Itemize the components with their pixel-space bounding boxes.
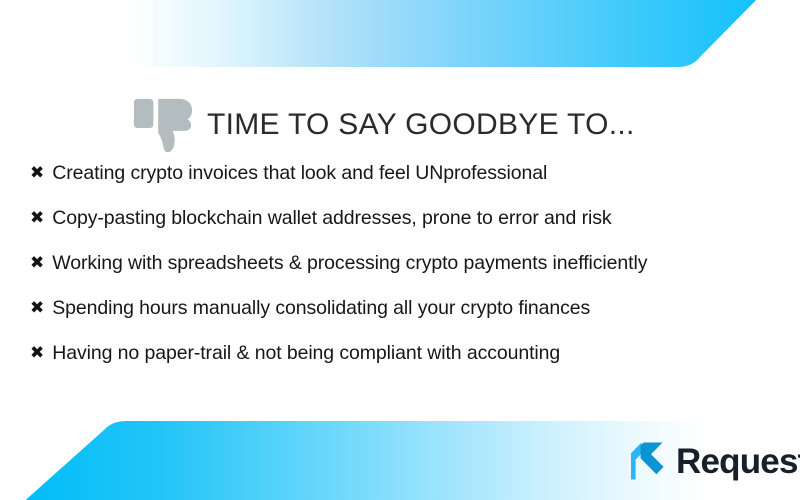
list-item: ✖ Creating crypto invoices that look and… bbox=[30, 164, 775, 209]
page-title: TIME TO SAY GOODBYE TO... bbox=[207, 110, 635, 144]
list-item-label: Having no paper-trail & not being compli… bbox=[52, 344, 560, 364]
cross-icon: ✖ bbox=[30, 165, 44, 182]
list-item: ✖ Copy-pasting blockchain wallet address… bbox=[30, 209, 775, 254]
top-blue-banner bbox=[0, 0, 800, 69]
slide-canvas: TIME TO SAY GOODBYE TO... ✖ Creating cry… bbox=[0, 0, 800, 500]
list-item-label: Copy-pasting blockchain wallet addresses… bbox=[52, 209, 611, 229]
cross-icon: ✖ bbox=[30, 345, 44, 362]
pain-point-list: ✖ Creating crypto invoices that look and… bbox=[30, 164, 775, 389]
list-item: ✖ Having no paper-trail & not being comp… bbox=[30, 344, 775, 389]
cross-icon: ✖ bbox=[30, 255, 44, 272]
request-logo[interactable]: Request bbox=[629, 441, 800, 481]
page-heading: TIME TO SAY GOODBYE TO... bbox=[133, 96, 635, 158]
list-item-label: Spending hours manually consolidating al… bbox=[52, 299, 590, 319]
list-item-label: Working with spreadsheets & processing c… bbox=[52, 254, 647, 274]
list-item: ✖ Working with spreadsheets & processing… bbox=[30, 254, 775, 299]
list-item-label: Creating crypto invoices that look and f… bbox=[52, 164, 547, 184]
cross-icon: ✖ bbox=[30, 210, 44, 227]
cross-icon: ✖ bbox=[30, 300, 44, 317]
request-wordmark: Request bbox=[676, 444, 800, 479]
list-item: ✖ Spending hours manually consolidating … bbox=[30, 299, 775, 344]
thumbs-down-icon bbox=[133, 96, 195, 158]
request-r-logo-icon bbox=[629, 441, 667, 481]
